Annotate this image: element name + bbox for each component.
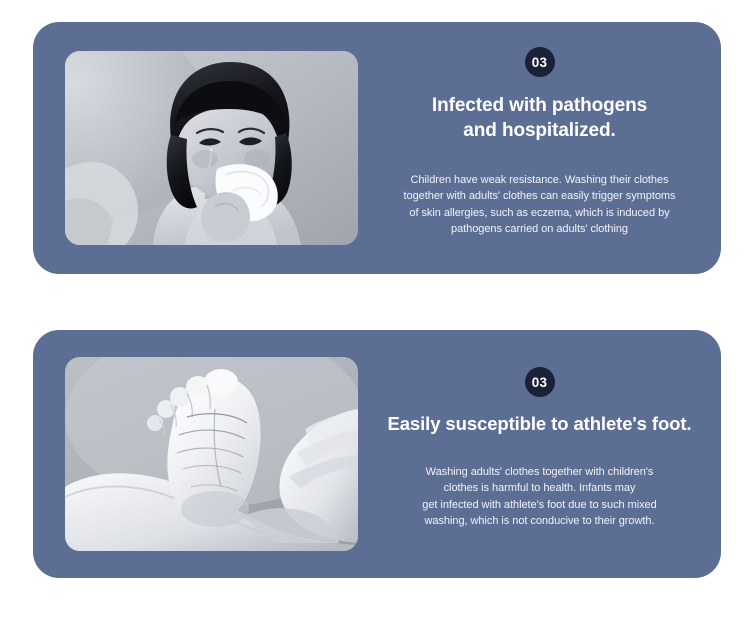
info-panel-1: 03 Infected with pathogens and hospitali… — [33, 22, 721, 274]
info-panel-list: 03 Infected with pathogens and hospitali… — [0, 0, 750, 625]
panel-2-body-text: Washing adults' clothes together with ch… — [422, 464, 656, 530]
panel-2-heading: Easily susceptible to athlete's foot. — [388, 411, 692, 436]
child-photo-1 — [65, 51, 358, 245]
info-panel-2: 03 Easily susceptible to athlete's foot.… — [33, 330, 721, 578]
crying-child-with-tissue-icon — [65, 51, 358, 245]
panel-1-text-column: 03 Infected with pathogens and hospitali… — [358, 47, 721, 249]
baby-foot-in-adult-hands-icon — [65, 357, 358, 551]
panel-1-heading: Infected with pathogens and hospitalized… — [432, 93, 647, 143]
panel-1-body-text: Children have weak resistance. Washing t… — [404, 172, 676, 238]
baby-foot-photo-2 — [65, 357, 358, 551]
panel-2-number-badge: 03 — [525, 367, 555, 397]
panel-2-text-column: 03 Easily susceptible to athlete's foot.… — [358, 367, 721, 540]
panel-1-number-badge: 03 — [525, 47, 555, 77]
